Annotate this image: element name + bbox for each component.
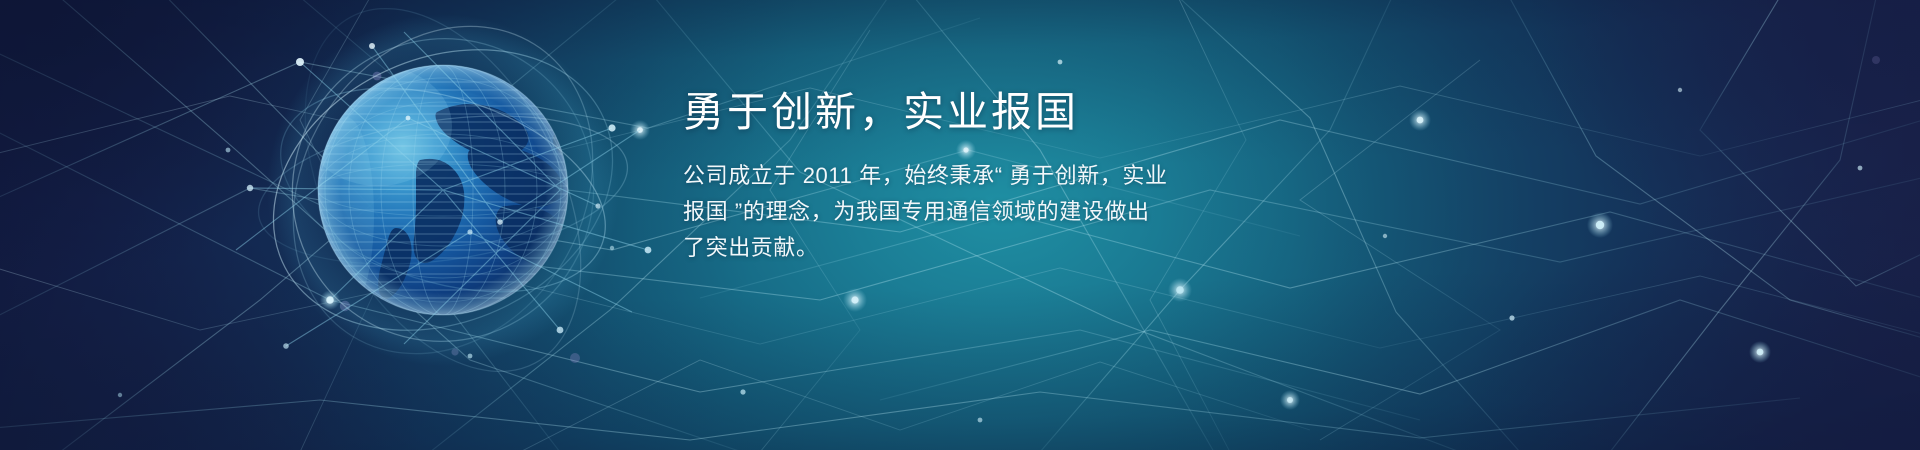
company-description: 公司成立于 2011 年，始终秉承“ 勇于创新，实业 报国 ”的理念，为我国专用… <box>683 158 1323 265</box>
page-title: 勇于创新，实业报国 <box>683 88 1323 136</box>
description-line-1: 公司成立于 2011 年，始终秉承“ 勇于创新，实业 <box>683 158 1323 194</box>
description-line-2: 报国 ”的理念，为我国专用通信领域的建设做出 <box>683 194 1323 230</box>
hero-text-block: 勇于创新，实业报国 公司成立于 2011 年，始终秉承“ 勇于创新，实业 报国 … <box>683 88 1323 265</box>
description-line-3: 了突出贡献。 <box>683 230 1323 266</box>
company-hero-banner: 勇于创新，实业报国 公司成立于 2011 年，始终秉承“ 勇于创新，实业 报国 … <box>0 0 1920 450</box>
